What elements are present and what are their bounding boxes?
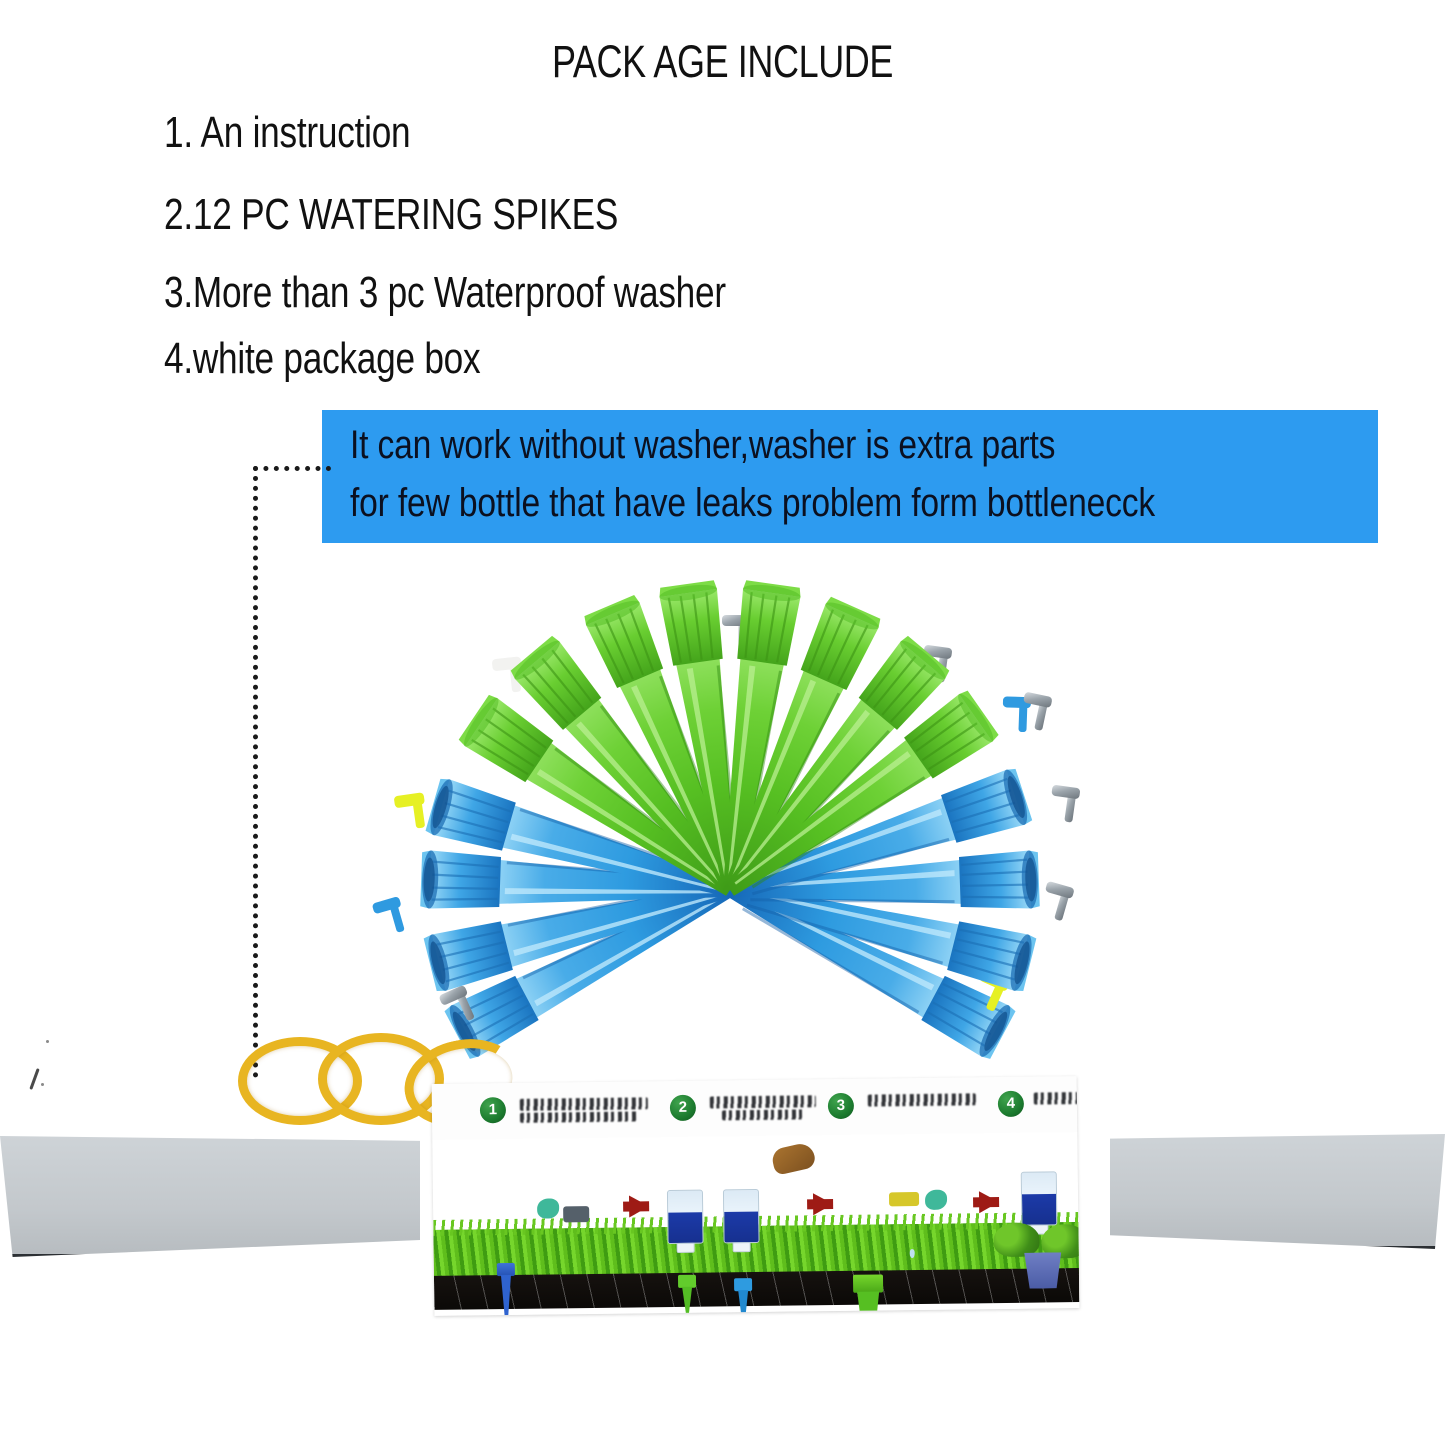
card-plant-left	[993, 1223, 1039, 1258]
card-arrow-2	[813, 1193, 833, 1215]
step-caption-1b	[520, 1111, 638, 1122]
step-caption-1	[520, 1097, 648, 1111]
card-part-teal-2	[925, 1190, 947, 1210]
card-part-gray	[563, 1206, 589, 1222]
step-caption-2b	[722, 1109, 804, 1120]
card-arrow-1	[629, 1195, 649, 1217]
step-badge-2: 2	[670, 1095, 696, 1121]
soil-strip	[434, 1268, 1079, 1310]
step-caption-2	[710, 1095, 816, 1108]
card-hand	[770, 1141, 817, 1176]
card-water-drop	[910, 1249, 915, 1258]
step-badge-1: 1	[480, 1097, 506, 1123]
step-badge-4: 4	[998, 1091, 1024, 1117]
step-badge-3: 3	[828, 1093, 854, 1119]
package-box-panel-right	[1110, 1134, 1445, 1249]
card-arrow-3	[979, 1191, 999, 1213]
infographic-canvas: PACK AGE INCLUDE 1. An instruction 2.12 …	[0, 0, 1445, 1445]
card-part-yellow	[889, 1192, 919, 1206]
card-part-teal	[537, 1198, 559, 1218]
instruction-card-header: 1 2 3 4	[432, 1082, 1077, 1130]
step-caption-3	[868, 1093, 976, 1106]
instruction-card-scene	[432, 1132, 1079, 1316]
package-box-panel-left	[0, 1136, 420, 1257]
instruction-card: 1 2 3 4	[432, 1076, 1080, 1316]
step-caption-4	[1034, 1092, 1080, 1105]
